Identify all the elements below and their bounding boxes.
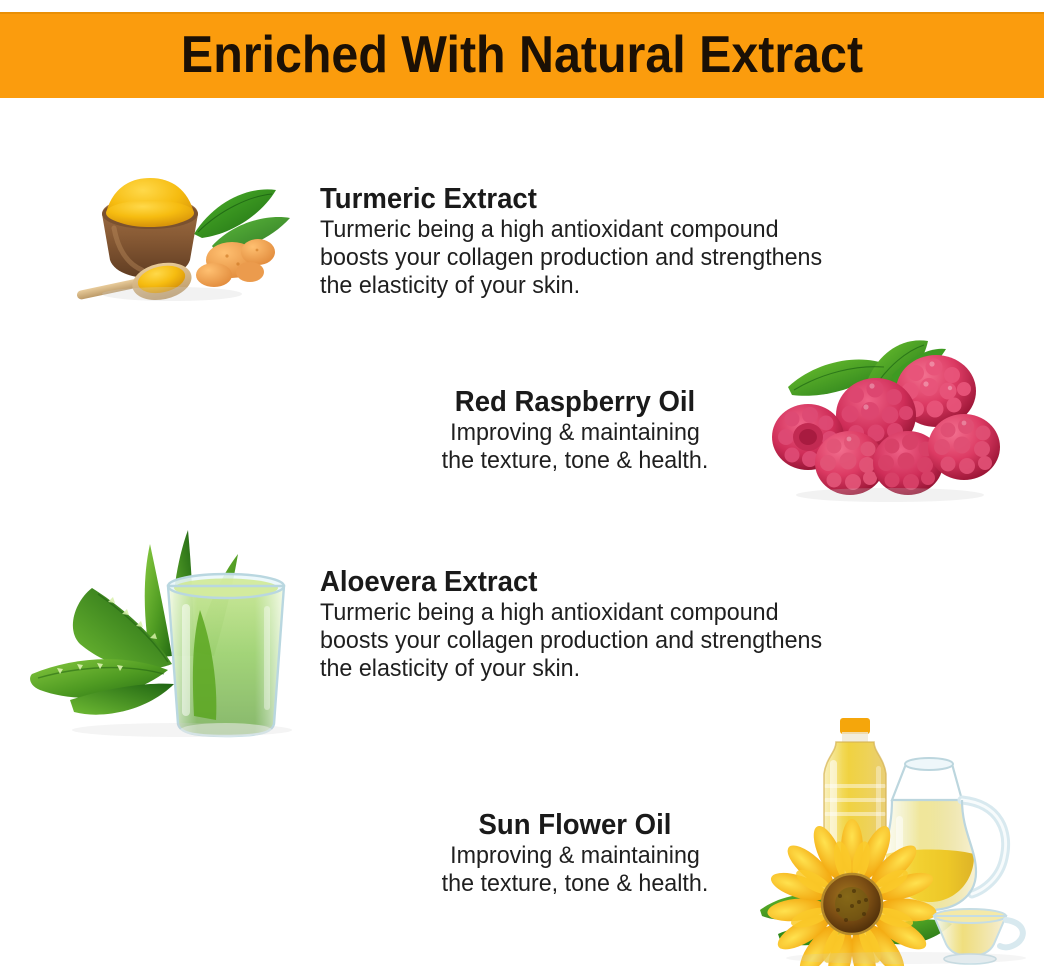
raspberry-heading: Red Raspberry Oil bbox=[409, 385, 742, 419]
sunflower-body-line-1: Improving & maintaining bbox=[405, 842, 745, 870]
turmeric-body-line-2: boosts your collagen production and stre… bbox=[320, 244, 822, 272]
turmeric-heading: Turmeric Extract bbox=[320, 182, 812, 216]
turmeric-bowl-image bbox=[62, 172, 298, 308]
aloevera-body-line-1: Turmeric being a high antioxidant compou… bbox=[320, 599, 822, 627]
raspberry-body-line-1: Improving & maintaining bbox=[405, 419, 745, 447]
aloevera-glass-image bbox=[22, 524, 304, 739]
page-title: Enriched With Natural Extract bbox=[37, 12, 1008, 98]
turmeric-text-block: Turmeric Extract Turmeric being a high a… bbox=[320, 182, 838, 300]
raspberry-image bbox=[764, 335, 1014, 503]
aloevera-text-block: Aloevera Extract Turmeric being a high a… bbox=[320, 565, 838, 683]
aloevera-body-line-3: the elasticity of your skin. bbox=[320, 655, 822, 683]
aloevera-heading: Aloevera Extract bbox=[320, 565, 812, 599]
sunflower-oil-image bbox=[756, 704, 1032, 966]
sunflower-text-block: Sun Flower Oil Improving & maintaining t… bbox=[400, 808, 750, 898]
raspberry-text-block: Red Raspberry Oil Improving & maintainin… bbox=[400, 385, 750, 475]
turmeric-body-line-1: Turmeric being a high antioxidant compou… bbox=[320, 216, 822, 244]
turmeric-body-line-3: the elasticity of your skin. bbox=[320, 272, 822, 300]
aloevera-body-line-2: boosts your collagen production and stre… bbox=[320, 627, 822, 655]
sunflower-body-line-2: the texture, tone & health. bbox=[405, 870, 745, 898]
raspberry-body-line-2: the texture, tone & health. bbox=[405, 447, 745, 475]
sunflower-heading: Sun Flower Oil bbox=[409, 808, 742, 842]
infographic-page: Enriched With Natural Extract bbox=[0, 0, 1044, 972]
header-banner: Enriched With Natural Extract bbox=[0, 12, 1044, 98]
